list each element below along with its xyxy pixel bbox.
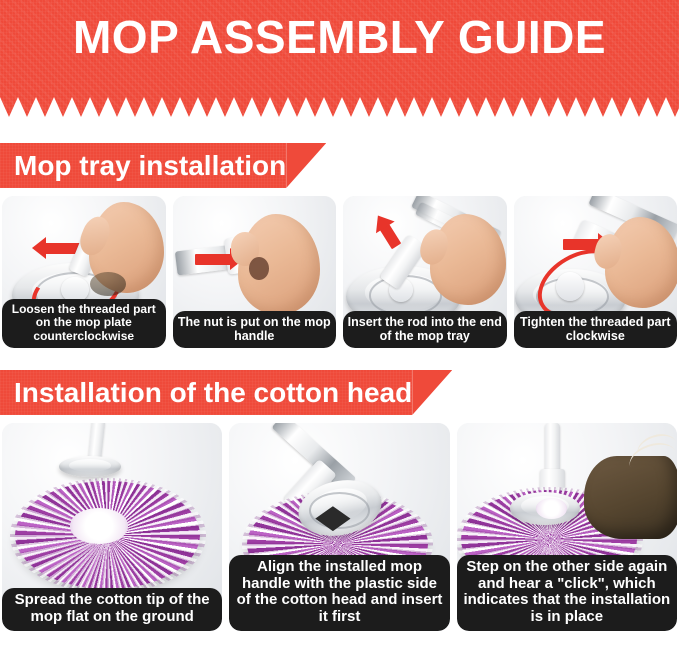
section-header-cotton-head: Installation of the cotton head (0, 370, 679, 415)
step-panel-7[interactable]: Step on the other side again and hear a … (457, 423, 677, 631)
banner-zigzag-edge (0, 97, 679, 117)
section-title: Mop tray installation (0, 152, 286, 180)
step-caption-5: Spread the cotton tip of the mop flat on… (2, 588, 222, 631)
step-panel-5[interactable]: Spread the cotton tip of the mop flat on… (2, 423, 222, 631)
step-caption-2: The nut is put on the mop handle (173, 311, 337, 348)
step-caption-6: Align the installed mop handle with the … (229, 555, 449, 631)
section-title-2: Installation of the cotton head (0, 379, 412, 407)
step-caption-1: Loosen the threaded part on the mop plat… (2, 299, 166, 348)
section-ribbon: Mop tray installation (0, 143, 286, 188)
step-panel-1[interactable]: Loosen the threaded part on the mop plat… (2, 196, 166, 348)
step-panel-4[interactable]: Tighten the threaded part clockwise (514, 196, 678, 348)
ribbon-arrow-tip-2 (412, 370, 452, 415)
page-header-banner: MOP ASSEMBLY GUIDE (0, 0, 679, 117)
page-title: MOP ASSEMBLY GUIDE (0, 14, 679, 60)
step-caption-7: Step on the other side again and hear a … (457, 555, 677, 631)
steps-row-cotton-head: Spread the cotton tip of the mop flat on… (0, 423, 679, 631)
step-caption-3: Insert the rod into the end of the mop t… (343, 311, 507, 348)
ribbon-arrow-tip (286, 143, 326, 188)
step-panel-2[interactable]: The nut is put on the mop handle (173, 196, 337, 348)
section-ribbon-2: Installation of the cotton head (0, 370, 412, 415)
step-panel-6[interactable]: Align the installed mop handle with the … (229, 423, 449, 631)
section-header-mop-tray: Mop tray installation (0, 143, 679, 188)
step-caption-4: Tighten the threaded part clockwise (514, 311, 678, 348)
steps-row-mop-tray: Loosen the threaded part on the mop plat… (0, 196, 679, 348)
step-panel-3[interactable]: Insert the rod into the end of the mop t… (343, 196, 507, 348)
